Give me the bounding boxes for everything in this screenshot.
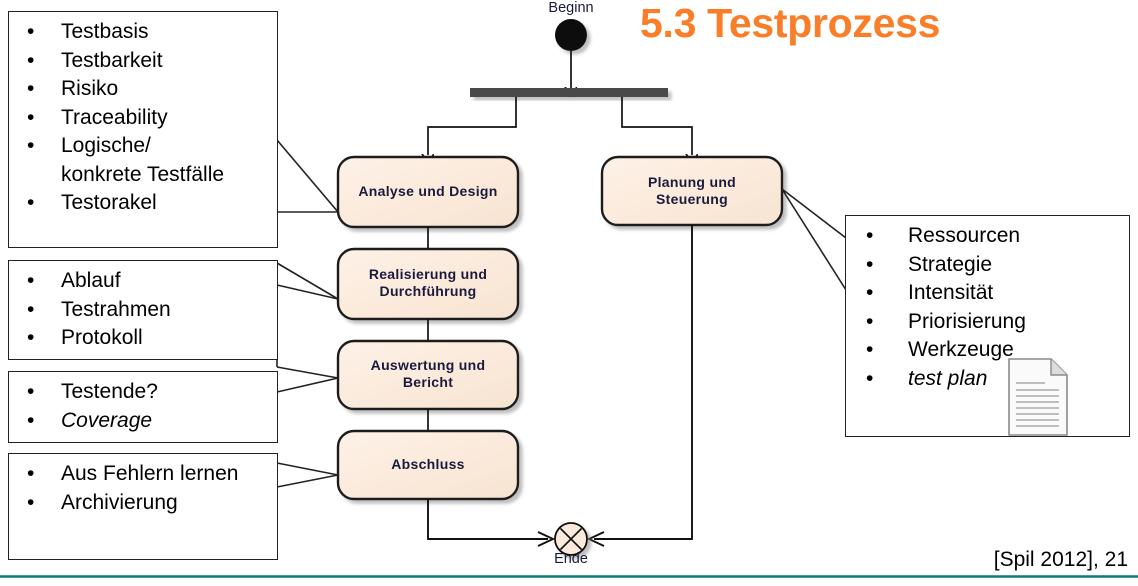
note-auswertung: •Testende? •Coverage: [8, 371, 278, 443]
bullet-icon: •: [27, 267, 34, 296]
callout-tail-analyse: [277, 125, 338, 246]
list-item: •Strategie: [846, 251, 1129, 280]
activity-planung-und-steuerung[interactable]: [602, 157, 782, 225]
note-auswertung-list: •Testende? •Coverage: [9, 378, 277, 435]
bullet-icon: •: [27, 104, 34, 133]
bullet-icon: •: [27, 324, 34, 353]
bullet-icon: •: [27, 407, 34, 436]
list-item: •Testbasis: [9, 18, 277, 47]
document-icon: [1007, 357, 1071, 437]
bullet-icon: •: [27, 296, 34, 325]
list-item: •Ressourcen: [846, 222, 1129, 251]
list-item: •test plan: [846, 365, 1129, 394]
flow-abschluss-to-ende: [428, 499, 548, 539]
bullet-icon: •: [866, 365, 873, 394]
bullet-icon: •: [866, 251, 873, 280]
bullet-icon: •: [27, 460, 34, 489]
list-item: •Priorisierung: [846, 308, 1129, 337]
activity-auswertung-und-bericht[interactable]: [338, 341, 518, 409]
list-item: •Ablauf: [9, 267, 277, 296]
note-abschluss-list: •Aus Fehlern lernen •Archivierung: [9, 460, 277, 517]
note-analyse-list: •Testbasis •Testbarkeit •Risiko •Traceab…: [9, 18, 277, 218]
list-item: •Coverage: [9, 407, 277, 436]
bullet-icon: •: [27, 489, 34, 518]
slide-canvas: 5.3 Testprozess Beginn Ende Analyse und …: [0, 0, 1138, 586]
activity-abschluss[interactable]: [338, 431, 518, 499]
note-planung-list: •Ressourcen •Strategie •Intensität •Prio…: [846, 222, 1129, 393]
list-item: •Testbarkeit: [9, 47, 277, 76]
page-title: 5.3 Testprozess: [640, 0, 940, 47]
note-planung: •Ressourcen •Strategie •Intensität •Prio…: [845, 215, 1130, 437]
bullet-icon: •: [27, 378, 34, 407]
list-item: •Testorakel: [9, 189, 277, 218]
activity-analyse-und-design[interactable]: [338, 157, 518, 227]
note-abschluss: •Aus Fehlern lernen •Archivierung: [8, 453, 278, 560]
list-item: •Archivierung: [9, 489, 277, 518]
list-item: •Traceability: [9, 104, 277, 133]
flow-fork-to-analyse: [428, 97, 516, 155]
list-item: •Aus Fehlern lernen: [9, 460, 277, 489]
bullet-icon: •: [866, 279, 873, 308]
bullet-icon: •: [27, 47, 34, 76]
bullet-icon: •: [27, 75, 34, 104]
note-realisierung: •Ablauf •Testrahmen •Protokoll: [8, 260, 278, 360]
flow-planung-to-ende: [594, 225, 692, 539]
list-item-continuation: konkrete Testfälle: [9, 161, 277, 190]
activity-realisierung-und-durchfuehrung[interactable]: [338, 249, 518, 319]
end-node: [555, 523, 587, 555]
bullet-icon: •: [27, 132, 34, 161]
bullet-icon: •: [866, 336, 873, 365]
list-item: •Risiko: [9, 75, 277, 104]
bullet-icon: •: [866, 308, 873, 337]
fork-bar: [470, 88, 668, 97]
callout-tail-auswertung: [277, 360, 338, 404]
list-item: •Intensität: [846, 279, 1129, 308]
bullet-icon: •: [27, 189, 34, 218]
note-analyse: •Testbasis •Testbarkeit •Risiko •Traceab…: [8, 11, 278, 248]
citation-text: [Spil 2012], 21: [994, 548, 1128, 572]
callout-tail-abschluss: [277, 455, 338, 500]
list-item: •Testrahmen: [9, 296, 277, 325]
flow-fork-to-planung: [622, 97, 692, 155]
list-item: •Protokoll: [9, 324, 277, 353]
note-realisierung-list: •Ablauf •Testrahmen •Protokoll: [9, 267, 277, 353]
bullet-icon: •: [866, 222, 873, 251]
callout-tail-planung: [782, 189, 846, 312]
list-item: •Testende?: [9, 378, 277, 407]
list-item: •Werkzeuge: [846, 336, 1129, 365]
start-node: [555, 19, 587, 88]
list-item: •Logische/: [9, 132, 277, 161]
callout-tail-realisierung: [277, 263, 338, 310]
bullet-icon: •: [27, 18, 34, 47]
